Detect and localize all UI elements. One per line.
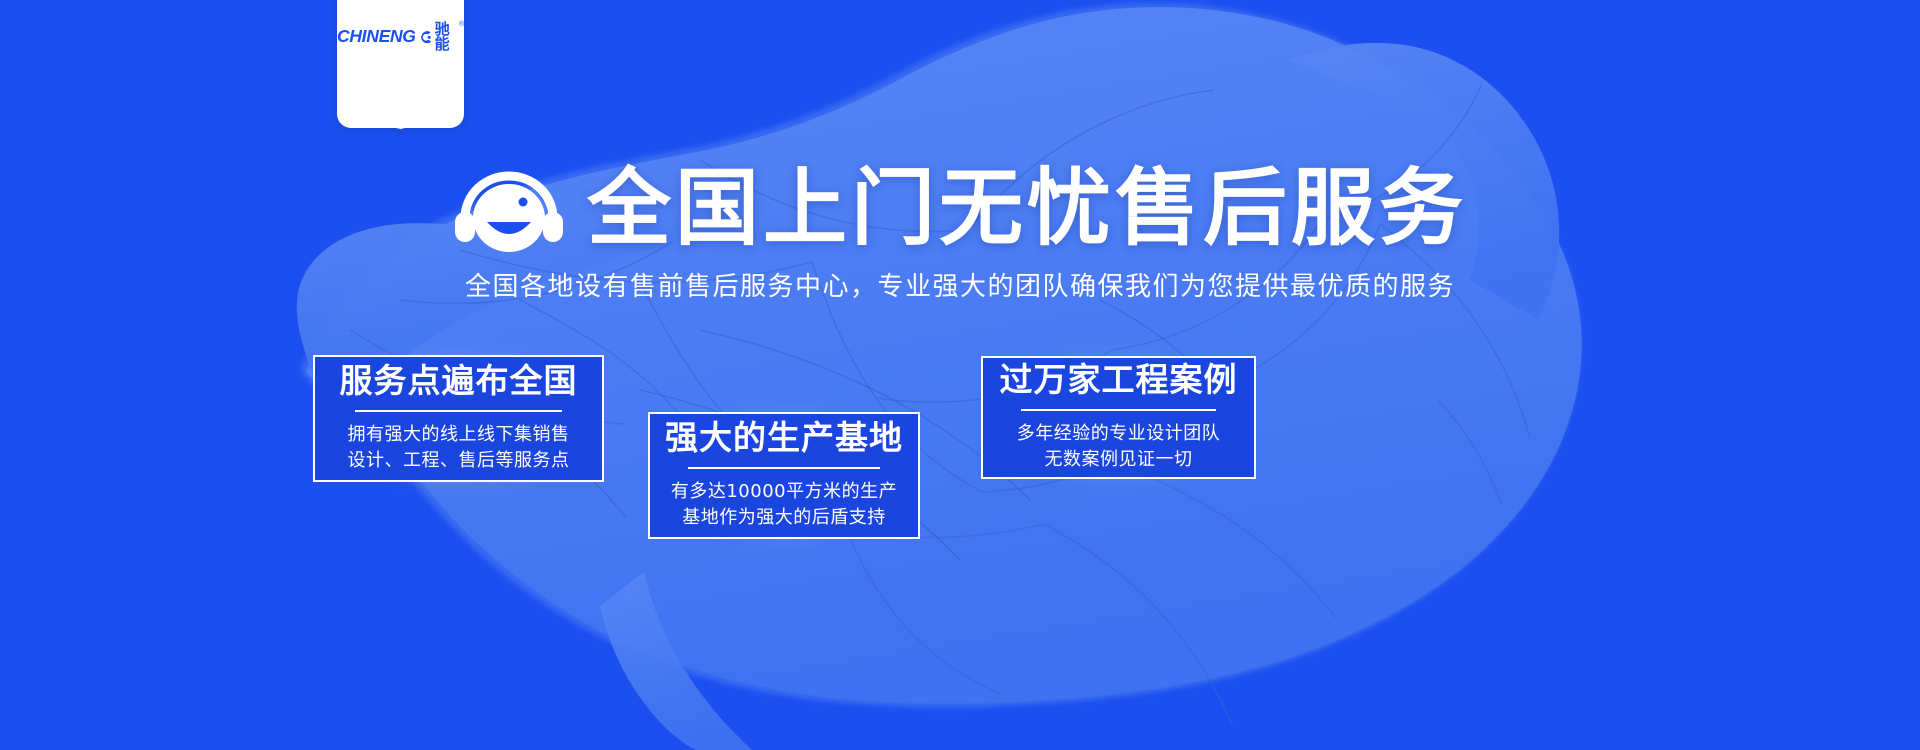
card-body-line-1: 多年经验的专业设计团队 (1017, 421, 1221, 447)
logo-latin-text: CHINENG (337, 28, 416, 46)
logo-inner: CHINENG 驰能 ® (337, 22, 464, 52)
headline-row: 全国上门无忧售后服务 (0, 160, 1920, 256)
feature-card-production-base[interactable]: 强大的生产基地 有多达10000平方米的生产 基地作为强大的后盾支持 (648, 412, 920, 539)
card-body: 拥有强大的线上线下集销售 设计、工程、售后等服务点 (348, 422, 570, 474)
card-body: 有多达10000平方米的生产 基地作为强大的后盾支持 (671, 479, 897, 531)
brand-logo-tag[interactable]: CHINENG 驰能 ® (337, 0, 464, 128)
feature-card-project-cases[interactable]: 过万家工程案例 多年经验的专业设计团队 无数案例见证一切 (981, 356, 1256, 479)
card-title: 过万家工程案例 (1000, 362, 1238, 398)
banner-stage: CHINENG 驰能 ® (0, 0, 1920, 750)
card-title: 服务点遍布全国 (340, 363, 578, 399)
headset-smile-support-icon (453, 160, 565, 256)
chineng-swirl-mark-icon (419, 30, 432, 45)
page-subtitle: 全国各地设有售前售后服务中心，专业强大的团队确保我们为您提供最优质的服务 (0, 272, 1920, 303)
card-body-line-2: 基地作为强大的后盾支持 (671, 505, 897, 531)
card-body-line-2: 设计、工程、售后等服务点 (348, 448, 570, 474)
card-divider (688, 467, 881, 469)
card-divider (355, 410, 562, 412)
china-map-background (0, 0, 1920, 750)
card-body-line-2: 无数案例见证一切 (1017, 447, 1221, 473)
card-body-line-1: 有多达10000平方米的生产 (671, 479, 897, 505)
card-divider (1021, 409, 1216, 411)
page-title: 全国上门无忧售后服务 (587, 166, 1467, 250)
logo-chinese-text: 驰能 (435, 22, 455, 52)
card-title: 强大的生产基地 (665, 420, 903, 456)
card-body: 多年经验的专业设计团队 无数案例见证一切 (1017, 421, 1221, 473)
feature-card-service-points[interactable]: 服务点遍布全国 拥有强大的线上线下集销售 设计、工程、售后等服务点 (313, 355, 604, 482)
registered-trademark-icon: ® (459, 21, 464, 28)
card-body-line-1: 拥有强大的线上线下集销售 (348, 422, 570, 448)
